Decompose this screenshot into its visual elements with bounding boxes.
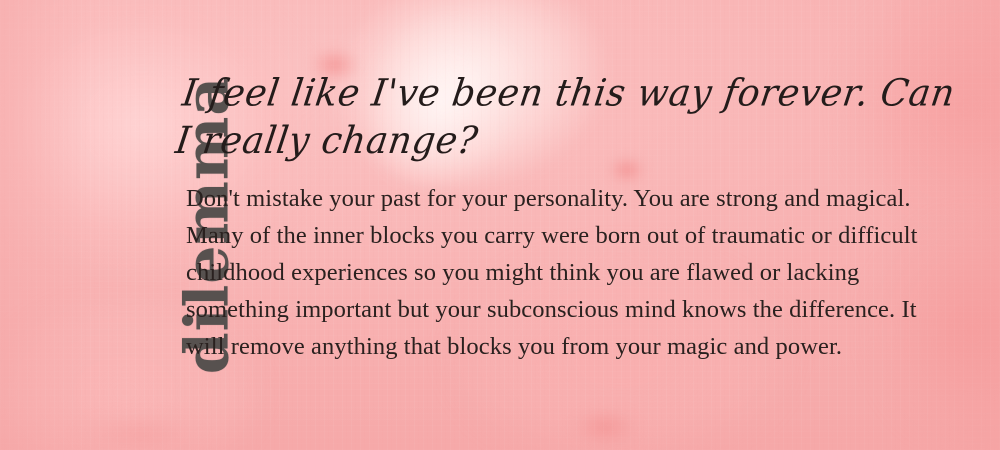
question-heading: I feel like I've been this way forever. … [173, 70, 966, 166]
category-label: dilemma [0, 0, 170, 450]
answer-body-text: Don't mistake your past for your persona… [186, 180, 946, 365]
dilemma-quote-card: dilemma I feel like I've been this way f… [0, 0, 1000, 450]
background-wash-spot-lower [560, 400, 650, 450]
quote-content: I feel like I've been this way forever. … [186, 70, 976, 365]
